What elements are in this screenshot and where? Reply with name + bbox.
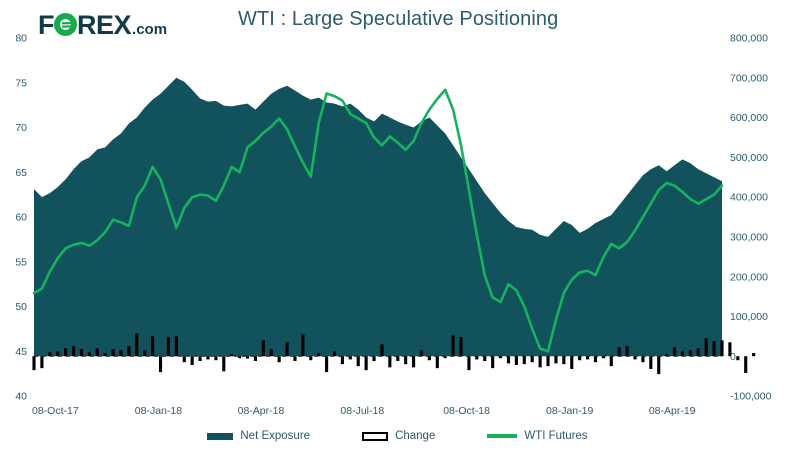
left-axis-tick: 80 bbox=[15, 33, 27, 45]
left-axis-tick: 70 bbox=[15, 122, 27, 134]
net-exposure-area bbox=[34, 78, 722, 356]
right-axis-tick: 200,000 bbox=[730, 271, 768, 283]
x-axis-tick: 08-Apr-18 bbox=[238, 405, 285, 417]
legend-swatch-area-icon bbox=[207, 433, 233, 440]
left-axis-tick: 65 bbox=[15, 167, 27, 179]
right-axis-tick: 800,000 bbox=[730, 33, 768, 45]
x-axis-tick: 08-Jan-18 bbox=[135, 405, 182, 417]
legend-label-net-exposure: Net Exposure bbox=[240, 430, 310, 442]
right-axis-tick: 300,000 bbox=[730, 231, 768, 243]
legend-label-change: Change bbox=[395, 430, 435, 442]
right-axis-tick: 400,000 bbox=[730, 192, 768, 204]
x-axis-tick: 08-Jan-19 bbox=[546, 405, 593, 417]
chart-legend: Net Exposure Change WTI Futures bbox=[0, 430, 795, 442]
left-axis-tick: 45 bbox=[15, 346, 27, 358]
left-axis-labels: 404550556065707580 bbox=[15, 33, 27, 403]
legend-item-net-exposure[interactable]: Net Exposure bbox=[207, 430, 310, 442]
right-axis-tick: 0 bbox=[730, 351, 736, 363]
right-axis-tick: 500,000 bbox=[730, 152, 768, 164]
x-axis-tick: 08-Apr-19 bbox=[649, 405, 696, 417]
chart-screenshot: F REX .com WTI : Large Speculative Posit… bbox=[0, 0, 795, 455]
right-axis-labels: -100,0000100,000200,000300,000400,000500… bbox=[730, 33, 772, 403]
left-axis-tick: 75 bbox=[15, 77, 27, 89]
legend-item-change[interactable]: Change bbox=[362, 430, 435, 442]
chart-container: 404550556065707580 -100,0000100,000200,0… bbox=[0, 0, 795, 455]
legend-swatch-line-icon bbox=[487, 434, 517, 438]
chart-svg: 404550556065707580 -100,0000100,000200,0… bbox=[0, 0, 795, 455]
left-axis-tick: 60 bbox=[15, 212, 27, 224]
right-axis-tick: 100,000 bbox=[730, 311, 768, 323]
right-axis-tick: -100,000 bbox=[730, 391, 772, 403]
x-axis-tick: 08-Oct-17 bbox=[32, 405, 79, 417]
legend-label-wti-futures: WTI Futures bbox=[524, 430, 587, 442]
x-axis-labels: 08-Oct-1708-Jan-1808-Apr-1808-Jul-1808-O… bbox=[32, 405, 696, 417]
legend-item-wti-futures[interactable]: WTI Futures bbox=[487, 430, 587, 442]
legend-swatch-bar-icon bbox=[362, 432, 388, 441]
left-axis-tick: 50 bbox=[15, 301, 27, 313]
right-axis-tick: 600,000 bbox=[730, 112, 768, 124]
right-axis-tick: 700,000 bbox=[730, 72, 768, 84]
x-axis-tick: 08-Jul-18 bbox=[340, 405, 384, 417]
left-axis-tick: 55 bbox=[15, 256, 27, 268]
left-axis-tick: 40 bbox=[15, 391, 27, 403]
x-axis-tick: 08-Oct-18 bbox=[443, 405, 490, 417]
